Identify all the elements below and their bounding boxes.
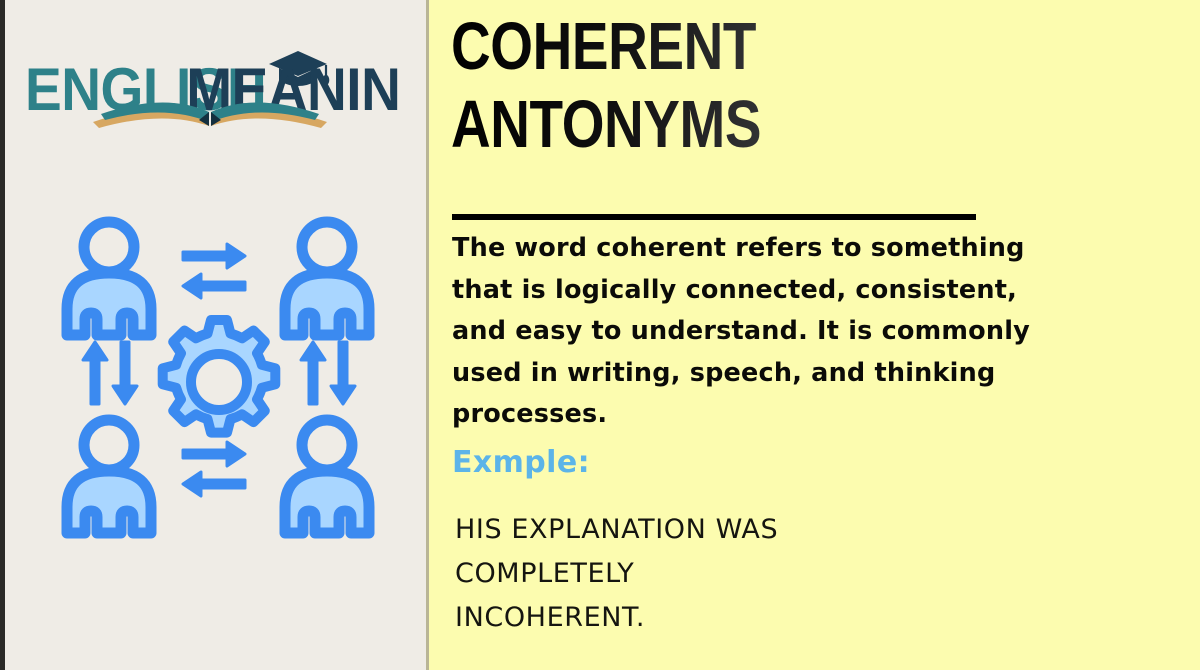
bidirectional-arrow-vertical-left [83,342,137,404]
person-icon-top-left [67,222,151,335]
bidirectional-arrow-vertical-right [301,342,355,404]
brand-logo: ENGLISH MEANINGZ [23,18,398,130]
title-line-2: ANTONYMS [451,86,1058,164]
title-underline-rule [452,214,976,220]
example-sentence: HIS EXPLANATION WAS COMPLETELY INCOHEREN… [455,508,1055,640]
collaboration-network-svg [49,212,389,552]
page-title: COHERENT ANTONYMS [451,8,1191,164]
right-panel: COHERENT ANTONYMS The word coherent refe… [429,0,1200,670]
gear-icon [163,320,276,433]
collaboration-network-illustration [49,212,389,552]
person-icon-top-right [285,222,369,335]
bidirectional-arrow-horizontal-top [183,244,245,298]
title-line-1: COHERENT [451,8,1058,86]
example-line-3: INCOHERENT. [455,596,1055,640]
brand-logo-svg: ENGLISH MEANINGZ [23,18,398,130]
bidirectional-arrow-horizontal-bottom [183,442,245,496]
person-icon-bottom-right [285,420,369,533]
left-panel: ENGLISH MEANINGZ [0,0,426,670]
example-line-2: COMPLETELY [455,552,1055,596]
infographic-canvas: ENGLISH MEANINGZ [0,0,1200,670]
example-line-1: HIS EXPLANATION WAS [455,508,1055,552]
example-label: Exmple: [452,444,590,482]
definition-text: The word coherent refers to something th… [452,228,1072,436]
person-icon-bottom-left [67,420,151,533]
